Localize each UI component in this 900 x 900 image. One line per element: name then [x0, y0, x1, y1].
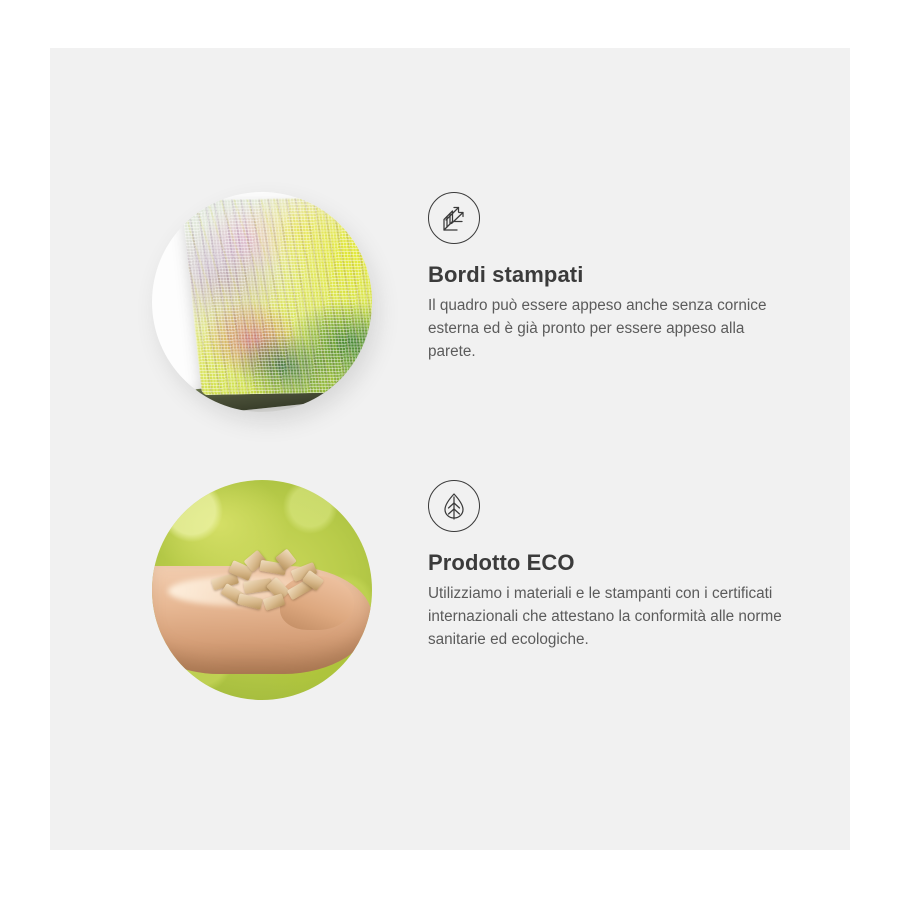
page-root: Bordi stampati Il quadro può essere appe…: [0, 0, 900, 900]
eco-hands-woodchips-photo: [152, 480, 372, 700]
printed-edges-text-column: Bordi stampati Il quadro può essere appe…: [428, 192, 808, 363]
canvas-corner-illustration: [178, 192, 372, 412]
eco-hands-media: [152, 480, 372, 700]
canvas-corner-media: [152, 192, 372, 412]
printed-edges-icon: [428, 192, 480, 244]
eco-product-text-column: Prodotto ECO Utilizziamo i materiali e l…: [428, 480, 808, 651]
feature-description: Il quadro può essere appeso anche senza …: [428, 295, 794, 363]
canvas-weave-texture: [181, 197, 372, 395]
feature-description: Utilizziamo i materiali e le stampanti c…: [428, 583, 794, 651]
leaf-glyph: [438, 490, 470, 522]
feature-block-printed-edges: Bordi stampati Il quadro può essere appe…: [50, 192, 850, 482]
printed-edges-glyph: [438, 202, 470, 234]
content-panel: Bordi stampati Il quadro può essere appe…: [50, 48, 850, 850]
feature-block-eco-product: Prodotto ECO Utilizziamo i materiali e l…: [50, 480, 850, 770]
feature-title: Prodotto ECO: [428, 550, 808, 576]
eco-photo-illustration: [152, 480, 372, 700]
wood-chips-pile: [208, 550, 330, 612]
feature-title: Bordi stampati: [428, 262, 808, 288]
leaf-icon: [428, 480, 480, 532]
canvas-corner-photo: [152, 192, 372, 412]
canvas-printed-face: [181, 197, 372, 395]
